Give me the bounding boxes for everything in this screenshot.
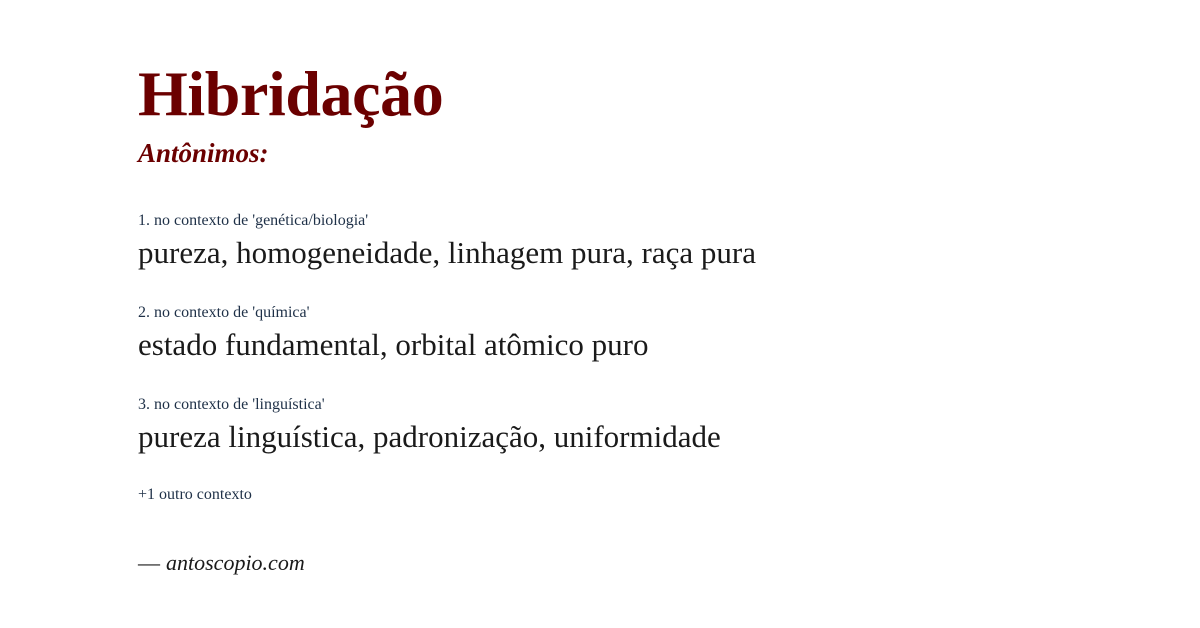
more-contexts-note: +1 outro contexto [138, 485, 1200, 504]
list-item: 1. no contexto de 'genética/biologia' pu… [138, 211, 1200, 273]
section-label-antonyms: Antônimos: [138, 140, 1200, 167]
card-header: Hibridação Antônimos: [138, 62, 1200, 167]
sense-list: 1. no contexto de 'genética/biologia' pu… [138, 211, 1200, 457]
attribution: —antoscopio.com [138, 550, 1200, 576]
em-dash-icon: — [138, 550, 166, 575]
sense-context-label: 2. no contexto de 'química' [138, 303, 1200, 322]
sense-terms: pureza, homogeneidade, linhagem pura, ra… [138, 234, 1200, 273]
sense-context-label: 3. no contexto de 'linguística' [138, 395, 1200, 414]
entry-title: Hibridação [138, 62, 1200, 126]
list-item: 3. no contexto de 'linguística' pureza l… [138, 395, 1200, 457]
sense-context-label: 1. no contexto de 'genética/biologia' [138, 211, 1200, 230]
list-item: 2. no contexto de 'química' estado funda… [138, 303, 1200, 365]
share-card: Hibridação Antônimos: 1. no contexto de … [0, 0, 1200, 628]
attribution-source: antoscopio.com [166, 550, 305, 575]
sense-terms: pureza linguística, padronização, unifor… [138, 418, 1200, 457]
sense-terms: estado fundamental, orbital atômico puro [138, 326, 1200, 365]
